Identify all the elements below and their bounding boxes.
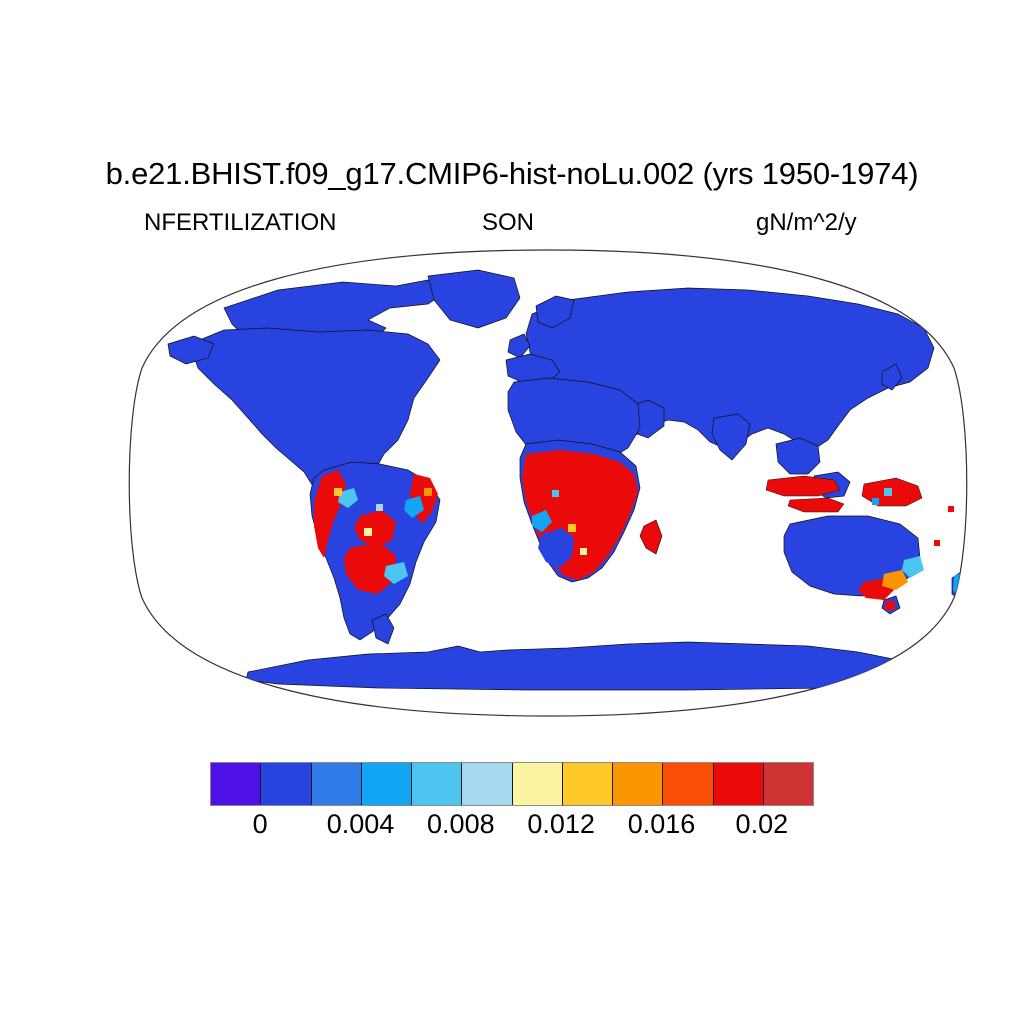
overlay-sa-yellow-1 [334, 488, 342, 496]
overlay-sa-cyan-speck [376, 504, 383, 511]
colorbar-cell-11 [764, 763, 813, 805]
overlay-africa-speck-3 [580, 548, 587, 555]
colorbar-tick-5: 0.02 [736, 808, 789, 841]
overlay-tasmania-high [885, 601, 895, 610]
overlay-speck-pacific-2 [948, 506, 954, 512]
overlay-sa-yellow-2 [364, 528, 372, 536]
colorbar-cell-5 [462, 763, 512, 805]
colorbar-cell-4 [412, 763, 462, 805]
map-canvas [128, 248, 968, 718]
overlay-ng-speck-2 [872, 498, 879, 505]
overlay-ng-speck-1 [884, 488, 892, 496]
season-label: SON [482, 208, 534, 238]
colorbar-cell-6 [513, 763, 563, 805]
colorbar-tick-labels: 00.0040.0080.0120.0160.02 [210, 808, 812, 842]
variable-label: NFERTILIZATION [144, 208, 336, 238]
colorbar-cell-2 [312, 763, 362, 805]
overlay-speck-pacific-1 [934, 540, 940, 546]
climate-map-figure: b.e21.BHIST.f09_g17.CMIP6-hist-noLu.002 … [0, 0, 1024, 1024]
overlay-sa-yellow-3 [424, 488, 432, 496]
units-label: gN/m^2/y [756, 208, 857, 238]
overlay-africa-speck-2 [552, 490, 559, 497]
world-map [128, 248, 968, 718]
colorbar-cell-8 [613, 763, 663, 805]
colorbar-cell-7 [563, 763, 613, 805]
colorbar-tick-3: 0.012 [527, 808, 595, 841]
colorbar [210, 762, 814, 806]
overlay-africa-speck-1 [568, 524, 576, 532]
colorbar-cell-3 [362, 763, 412, 805]
colorbar-tick-4: 0.016 [628, 808, 696, 841]
page-title: b.e21.BHIST.f09_g17.CMIP6-hist-noLu.002 … [0, 155, 1024, 193]
colorbar-cell-0 [211, 763, 261, 805]
colorbar-cell-9 [663, 763, 713, 805]
colorbar-tick-0: 0 [253, 808, 268, 841]
colorbar-tick-1: 0.004 [327, 808, 395, 841]
colorbar-cell-10 [714, 763, 764, 805]
colorbar-cell-1 [261, 763, 311, 805]
colorbar-tick-2: 0.008 [427, 808, 495, 841]
